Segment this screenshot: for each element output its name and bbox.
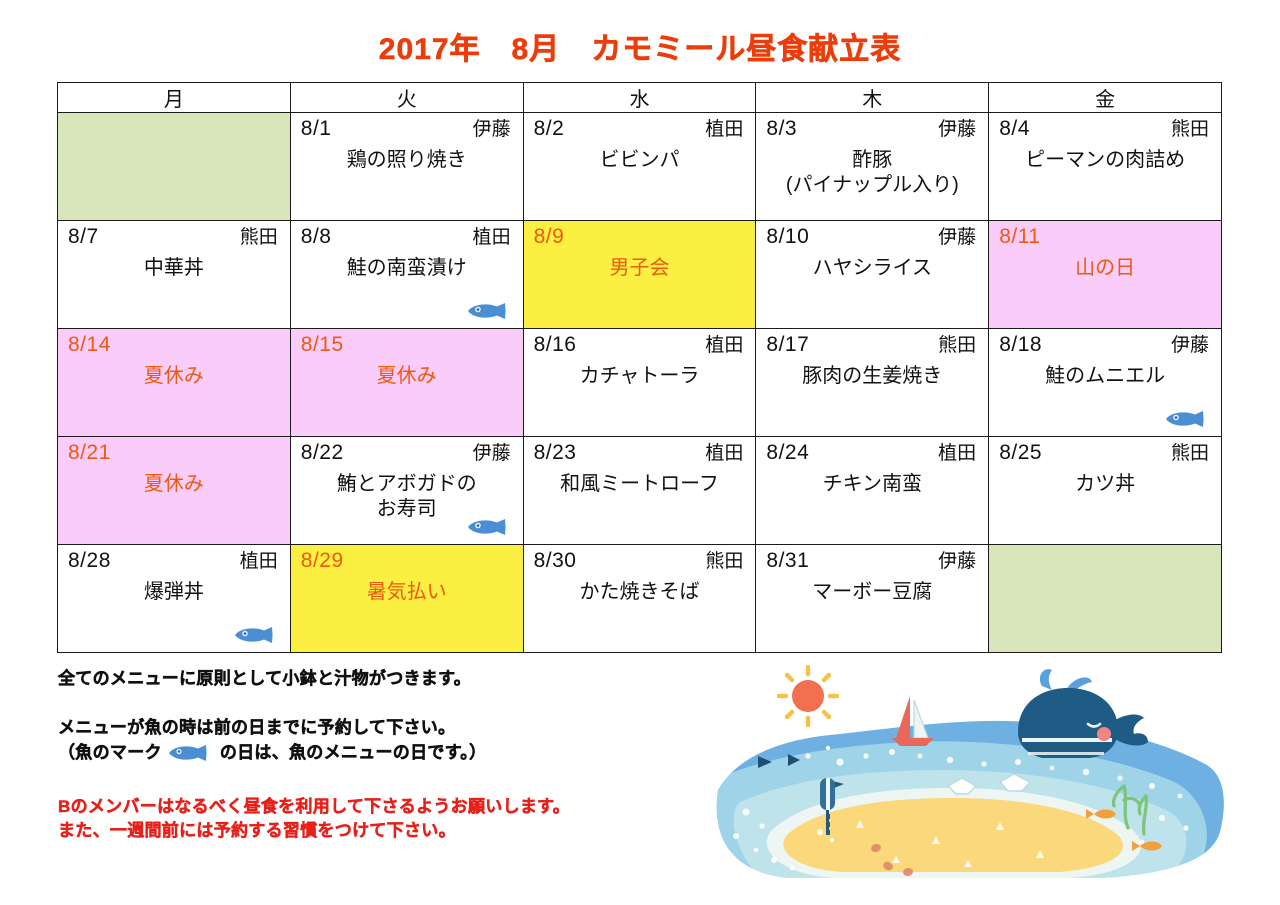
calendar-cell-date: 8/28 — [68, 548, 111, 574]
calendar-cell-content: 8/28植田爆弾丼 — [58, 545, 290, 652]
calendar-cell-content: 8/4熊田ピーマンの肉詰め — [989, 113, 1221, 220]
calendar-week-row: 8/7熊田中華丼8/8植田鮭の南蛮漬け8/9男子会8/10伊藤ハヤシライス8/1… — [58, 221, 1222, 329]
calendar-cell-date: 8/7 — [68, 224, 99, 250]
calendar-cell-staff: 熊田 — [240, 226, 280, 250]
calendar-cell-content: 8/2植田ビビンパ — [524, 113, 756, 220]
calendar-cell-day[interactable]: 8/11山の日 — [989, 221, 1222, 329]
calendar-cell-staff: 熊田 — [938, 334, 978, 358]
weekday-header-row: 月 火 水 木 金 — [58, 83, 1222, 113]
calendar-cell-date: 8/21 — [68, 440, 111, 466]
note-fish-legend-prefix: （魚のマーク — [58, 742, 162, 765]
calendar-cell-content: 8/29暑気払い — [291, 545, 523, 652]
calendar-cell-day[interactable]: 8/25熊田カツ丼 — [989, 437, 1222, 545]
calendar-cell-date: 8/1 — [301, 116, 332, 142]
calendar-cell-day[interactable]: 8/3伊藤酢豚 (パイナップル入り) — [756, 113, 989, 221]
calendar-cell-staff: 伊藤 — [938, 118, 978, 142]
calendar-cell-content: 8/21夏休み — [58, 437, 290, 544]
calendar-cell-content: 8/16植田カチャトーラ — [524, 329, 756, 436]
calendar-cell-menu: マーボー豆腐 — [766, 580, 978, 605]
calendar-cell-staff: 伊藤 — [938, 550, 978, 574]
calendar-cell-menu: 爆弾丼 — [68, 580, 280, 605]
calendar-cell-staff: 熊田 — [1171, 118, 1211, 142]
calendar-week-row: 8/28植田爆弾丼8/29暑気払い8/30熊田かた焼きそば8/31伊藤マーボー豆… — [58, 545, 1222, 653]
calendar-cell-date: 8/11 — [999, 224, 1040, 250]
calendar-cell-header: 8/29 — [301, 548, 513, 574]
calendar-cell-content: 8/23植田和風ミートローフ — [524, 437, 756, 544]
calendar-cell-day[interactable]: 8/30熊田かた焼きそば — [523, 545, 756, 653]
calendar-cell-content: 8/24植田チキン南蛮 — [756, 437, 988, 544]
fish-icon — [166, 743, 216, 763]
calendar-cell-menu: 山の日 — [999, 256, 1211, 281]
calendar-cell-header: 8/9 — [534, 224, 746, 250]
calendar-cell-menu: 鮭の南蛮漬け — [301, 256, 513, 281]
calendar-cell-header: 8/28植田 — [68, 548, 280, 574]
calendar-cell-day[interactable]: 8/23植田和風ミートローフ — [523, 437, 756, 545]
calendar-cell-date: 8/18 — [999, 332, 1042, 358]
calendar-cell-header: 8/11 — [999, 224, 1211, 250]
calendar-cell-day[interactable]: 8/8植田鮭の南蛮漬け — [290, 221, 523, 329]
note-fish-legend-suffix: の日は、魚のメニューの日です。） — [220, 742, 487, 765]
menu-calendar-page: 2017年 8月 カモミール昼食献立表 月 火 水 木 金 8/1伊藤鶏の照り焼… — [0, 0, 1280, 905]
note-member-request: Bのメンバーはなるべく昼食を利用して下さるようお願いします。 また、一週間前には… — [58, 795, 698, 844]
calendar-cell-date: 8/15 — [301, 332, 344, 358]
calendar-cell-header: 8/2植田 — [534, 116, 746, 142]
calendar-cell-content: 8/3伊藤酢豚 (パイナップル入り) — [756, 113, 988, 220]
calendar-cell-menu: ハヤシライス — [766, 256, 978, 281]
weekday-header-wed: 水 — [523, 83, 756, 113]
calendar-week-row: 8/14夏休み8/15夏休み8/16植田カチャトーラ8/17熊田豚肉の生姜焼き8… — [58, 329, 1222, 437]
calendar-cell-staff: 熊田 — [705, 550, 745, 574]
calendar-cell-menu: ピーマンの肉詰め — [999, 148, 1211, 173]
calendar-cell-header: 8/14 — [68, 332, 280, 358]
calendar-cell-content: 8/25熊田カツ丼 — [989, 437, 1221, 544]
calendar-cell-staff: 植田 — [705, 442, 745, 466]
calendar-cell-content: 8/11山の日 — [989, 221, 1221, 328]
calendar-cell-empty — [989, 545, 1222, 653]
calendar-cell-date: 8/25 — [999, 440, 1042, 466]
calendar-cell-date: 8/2 — [534, 116, 565, 142]
calendar-cell-day[interactable]: 8/10伊藤ハヤシライス — [756, 221, 989, 329]
sailboat-icon — [892, 696, 934, 746]
calendar-cell-date: 8/10 — [766, 224, 809, 250]
calendar-cell-day[interactable]: 8/15夏休み — [290, 329, 523, 437]
calendar-cell-menu: 鮪とアボガドの お寿司 — [301, 472, 513, 522]
calendar-cell-day[interactable]: 8/16植田カチャトーラ — [523, 329, 756, 437]
calendar-cell-staff: 伊藤 — [473, 118, 513, 142]
calendar-cell-menu: 酢豚 (パイナップル入り) — [766, 148, 978, 198]
calendar-cell-content: 8/14夏休み — [58, 329, 290, 436]
calendar-cell-menu: ビビンパ — [534, 148, 746, 173]
calendar-cell-header: 8/30熊田 — [534, 548, 746, 574]
calendar-cell-menu: 中華丼 — [68, 256, 280, 281]
calendar-cell-day[interactable]: 8/1伊藤鶏の照り焼き — [290, 113, 523, 221]
footer-notes: 全てのメニューに原則として小鉢と汁物がつきます。 メニューが魚の時は前の日までに… — [58, 668, 698, 844]
note-member-request-line1: Bのメンバーはなるべく昼食を利用して下さるようお願いします。 — [58, 795, 698, 820]
calendar-cell-content: 8/1伊藤鶏の照り焼き — [291, 113, 523, 220]
calendar-cell-header: 8/4熊田 — [999, 116, 1211, 142]
note-side-dishes: 全てのメニューに原則として小鉢と汁物がつきます。 — [58, 668, 698, 691]
calendar-week-row: 8/1伊藤鶏の照り焼き8/2植田ビビンパ8/3伊藤酢豚 (パイナップル入り)8/… — [58, 113, 1222, 221]
calendar-cell-date: 8/8 — [301, 224, 332, 250]
calendar-cell-content: 8/7熊田中華丼 — [58, 221, 290, 328]
calendar-cell-menu: 鮭のムニエル — [999, 364, 1211, 389]
calendar-cell-content: 8/10伊藤ハヤシライス — [756, 221, 988, 328]
calendar-cell-menu: 夏休み — [301, 364, 513, 389]
calendar-cell-date: 8/4 — [999, 116, 1030, 142]
calendar-cell-menu: 夏休み — [68, 472, 280, 497]
calendar-cell-header: 8/23植田 — [534, 440, 746, 466]
calendar-cell-staff: 熊田 — [1171, 442, 1211, 466]
calendar-cell-menu: カチャトーラ — [534, 364, 746, 389]
calendar-cell-menu: 鶏の照り焼き — [301, 148, 513, 173]
calendar-cell-day[interactable]: 8/31伊藤マーボー豆腐 — [756, 545, 989, 653]
calendar-cell-date: 8/29 — [301, 548, 344, 574]
calendar-cell-header: 8/24植田 — [766, 440, 978, 466]
calendar-cell-date: 8/9 — [534, 224, 565, 250]
calendar-cell-content: 8/15夏休み — [291, 329, 523, 436]
note-fish-mark-legend: （魚のマーク の日は、魚のメニューの日です。） — [58, 742, 698, 765]
calendar-cell-date: 8/31 — [766, 548, 809, 574]
weekday-header-thu: 木 — [756, 83, 989, 113]
calendar-cell-day[interactable]: 8/14夏休み — [58, 329, 291, 437]
calendar-cell-content: 8/30熊田かた焼きそば — [524, 545, 756, 652]
calendar-cell-day[interactable]: 8/29暑気払い — [290, 545, 523, 653]
calendar-cell-day[interactable]: 8/21夏休み — [58, 437, 291, 545]
calendar-cell-content: 8/22伊藤鮪とアボガドの お寿司 — [291, 437, 523, 544]
page-title: 2017年 8月 カモミール昼食献立表 — [0, 24, 1280, 68]
ocean-shape — [704, 721, 1224, 896]
weekday-header-fri: 金 — [989, 83, 1222, 113]
calendar-cell-menu: 豚肉の生姜焼き — [766, 364, 978, 389]
calendar-cell-header: 8/10伊藤 — [766, 224, 978, 250]
calendar-cell-menu: かた焼きそば — [534, 580, 746, 605]
calendar-cell-date: 8/14 — [68, 332, 111, 358]
calendar-cell-header: 8/1伊藤 — [301, 116, 513, 142]
calendar-cell-date: 8/24 — [766, 440, 809, 466]
note-fish-reservation: メニューが魚の時は前の日までに予約して下さい。 — [58, 717, 698, 740]
calendar-cell-day[interactable]: 8/22伊藤鮪とアボガドの お寿司 — [290, 437, 523, 545]
calendar-cell-date: 8/3 — [766, 116, 797, 142]
calendar-cell-content: 8/18伊藤鮭のムニエル — [989, 329, 1221, 436]
calendar-cell-header: 8/31伊藤 — [766, 548, 978, 574]
lunch-menu-calendar: 月 火 水 木 金 8/1伊藤鶏の照り焼き8/2植田ビビンパ8/3伊藤酢豚 (パ… — [57, 82, 1222, 653]
calendar-cell-day[interactable]: 8/7熊田中華丼 — [58, 221, 291, 329]
calendar-cell-menu: 和風ミートローフ — [534, 472, 746, 497]
weekday-header-mon: 月 — [58, 83, 291, 113]
calendar-cell-header: 8/22伊藤 — [301, 440, 513, 466]
calendar-cell-staff: 植田 — [473, 226, 513, 250]
calendar-cell-content: 8/9男子会 — [524, 221, 756, 328]
note-member-request-line2: また、一週間前には予約する習慣をつけて下さい。 — [58, 819, 698, 844]
calendar-cell-day[interactable]: 8/24植田チキン南蛮 — [756, 437, 989, 545]
calendar-cell-header: 8/18伊藤 — [999, 332, 1211, 358]
calendar-cell-date: 8/23 — [534, 440, 577, 466]
calendar-cell-staff: 伊藤 — [473, 442, 513, 466]
calendar-cell-header: 8/15 — [301, 332, 513, 358]
calendar-cell-menu: カツ丼 — [999, 472, 1211, 497]
calendar-cell-header: 8/17熊田 — [766, 332, 978, 358]
calendar-cell-header: 8/8植田 — [301, 224, 513, 250]
calendar-cell-date: 8/17 — [766, 332, 809, 358]
calendar-cell-day[interactable]: 8/2植田ビビンパ — [523, 113, 756, 221]
calendar-cell-staff: 植田 — [938, 442, 978, 466]
calendar-cell-header: 8/25熊田 — [999, 440, 1211, 466]
calendar-cell-content: 8/31伊藤マーボー豆腐 — [756, 545, 988, 652]
calendar-cell-date: 8/30 — [534, 548, 577, 574]
calendar-cell-empty — [58, 113, 291, 221]
calendar-cell-header: 8/16植田 — [534, 332, 746, 358]
calendar-week-row: 8/21夏休み8/22伊藤鮪とアボガドの お寿司8/23植田和風ミートローフ8/… — [58, 437, 1222, 545]
calendar-cell-content: 8/17熊田豚肉の生姜焼き — [756, 329, 988, 436]
calendar-cell-menu: チキン南蛮 — [766, 472, 978, 497]
calendar-cell-menu: 夏休み — [68, 364, 280, 389]
calendar-cell-day[interactable]: 8/28植田爆弾丼 — [58, 545, 291, 653]
calendar-cell-staff: 植田 — [240, 550, 280, 574]
sun-icon — [779, 667, 837, 725]
weekday-header-tue: 火 — [290, 83, 523, 113]
calendar-cell-staff: 伊藤 — [1171, 334, 1211, 358]
calendar-cell-date: 8/22 — [301, 440, 344, 466]
summer-beach-whale-illustration — [700, 660, 1245, 900]
calendar-cell-menu: 暑気払い — [301, 580, 513, 605]
calendar-cell-staff: 植田 — [705, 118, 745, 142]
calendar-cell-day[interactable]: 8/9男子会 — [523, 221, 756, 329]
calendar-cell-staff: 伊藤 — [938, 226, 978, 250]
calendar-cell-date: 8/16 — [534, 332, 577, 358]
calendar-cell-day[interactable]: 8/18伊藤鮭のムニエル — [989, 329, 1222, 437]
calendar-cell-day[interactable]: 8/4熊田ピーマンの肉詰め — [989, 113, 1222, 221]
calendar-cell-day[interactable]: 8/17熊田豚肉の生姜焼き — [756, 329, 989, 437]
calendar-cell-staff: 植田 — [705, 334, 745, 358]
calendar-cell-header: 8/21 — [68, 440, 280, 466]
calendar-cell-content: 8/8植田鮭の南蛮漬け — [291, 221, 523, 328]
calendar-cell-header: 8/3伊藤 — [766, 116, 978, 142]
calendar-cell-header: 8/7熊田 — [68, 224, 280, 250]
calendar-cell-menu: 男子会 — [534, 256, 746, 281]
